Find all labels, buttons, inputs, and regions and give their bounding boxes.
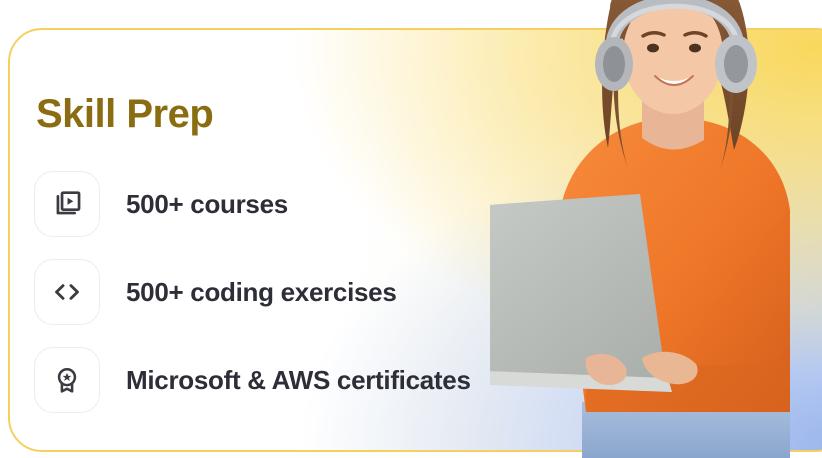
promo-card: Skill Prep 500+ courses — [8, 28, 822, 452]
list-item-label: 500+ coding exercises — [126, 277, 396, 308]
award-badge-icon — [34, 347, 100, 413]
list-item-label: Microsoft & AWS certificates — [126, 365, 471, 396]
list-item-label: 500+ courses — [126, 189, 288, 220]
promo-banner: Skill Prep 500+ courses — [0, 0, 822, 458]
list-item: 500+ courses — [34, 160, 594, 248]
list-item: 500+ coding exercises — [34, 248, 594, 336]
list-item: Microsoft & AWS certificates — [34, 336, 594, 424]
feature-list: 500+ courses 500+ coding exercises — [34, 160, 594, 424]
video-library-icon — [34, 171, 100, 237]
code-brackets-icon — [34, 259, 100, 325]
page-title: Skill Prep — [36, 92, 213, 137]
